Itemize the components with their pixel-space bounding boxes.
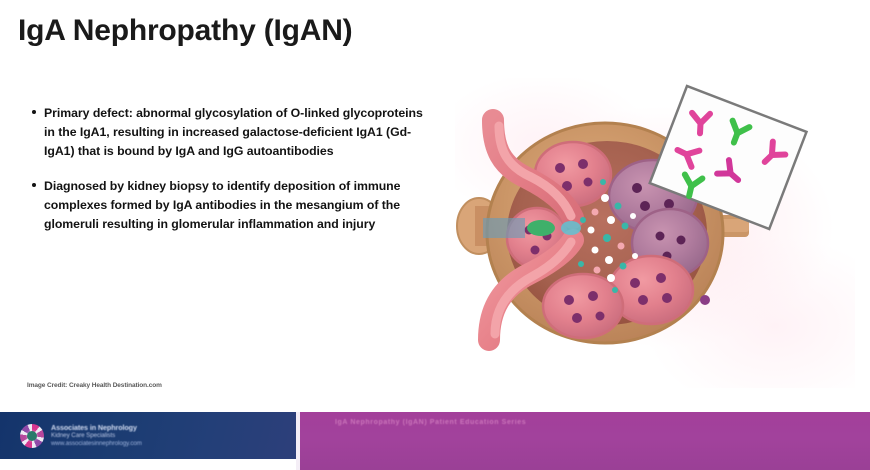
bullet-dot-icon [32, 110, 36, 114]
page-title: IgA Nephropathy (IgAN) [18, 14, 352, 48]
logo-core [27, 431, 37, 441]
org-name: Associates in Nephrology [51, 423, 142, 432]
presentation-slide: IgA Nephropathy (IgAN) Primary defect: a… [0, 0, 870, 470]
image-credit: Image Credit: Creaky Health Destination.… [27, 382, 162, 389]
organization-text: Associates in Nephrology Kidney Care Spe… [51, 423, 142, 449]
organization-logo-icon [20, 424, 44, 448]
bullet-text: Diagnosed by kidney biopsy to identify d… [44, 179, 400, 231]
org-website: www.associatesinnephrology.com [51, 440, 142, 449]
bullet-list: Primary defect: abnormal glycosylation o… [30, 104, 430, 250]
footer-band-text: IgA Nephropathy (IgAN) Patient Education… [335, 419, 526, 426]
org-tagline: Kidney Care Specialists [51, 432, 142, 441]
footer-org-block: Associates in Nephrology Kidney Care Spe… [0, 412, 296, 459]
glomerulus-illustration [455, 78, 855, 388]
list-item: Primary defect: abnormal glycosylation o… [30, 104, 430, 161]
bullet-text: Primary defect: abnormal glycosylation o… [44, 106, 423, 158]
glomerulus-svg [455, 78, 855, 388]
footer-purple-band: IgA Nephropathy (IgAN) Patient Education… [300, 412, 870, 470]
bullet-dot-icon [32, 183, 36, 187]
deposit-marker [700, 295, 710, 305]
list-item: Diagnosed by kidney biopsy to identify d… [30, 177, 430, 234]
